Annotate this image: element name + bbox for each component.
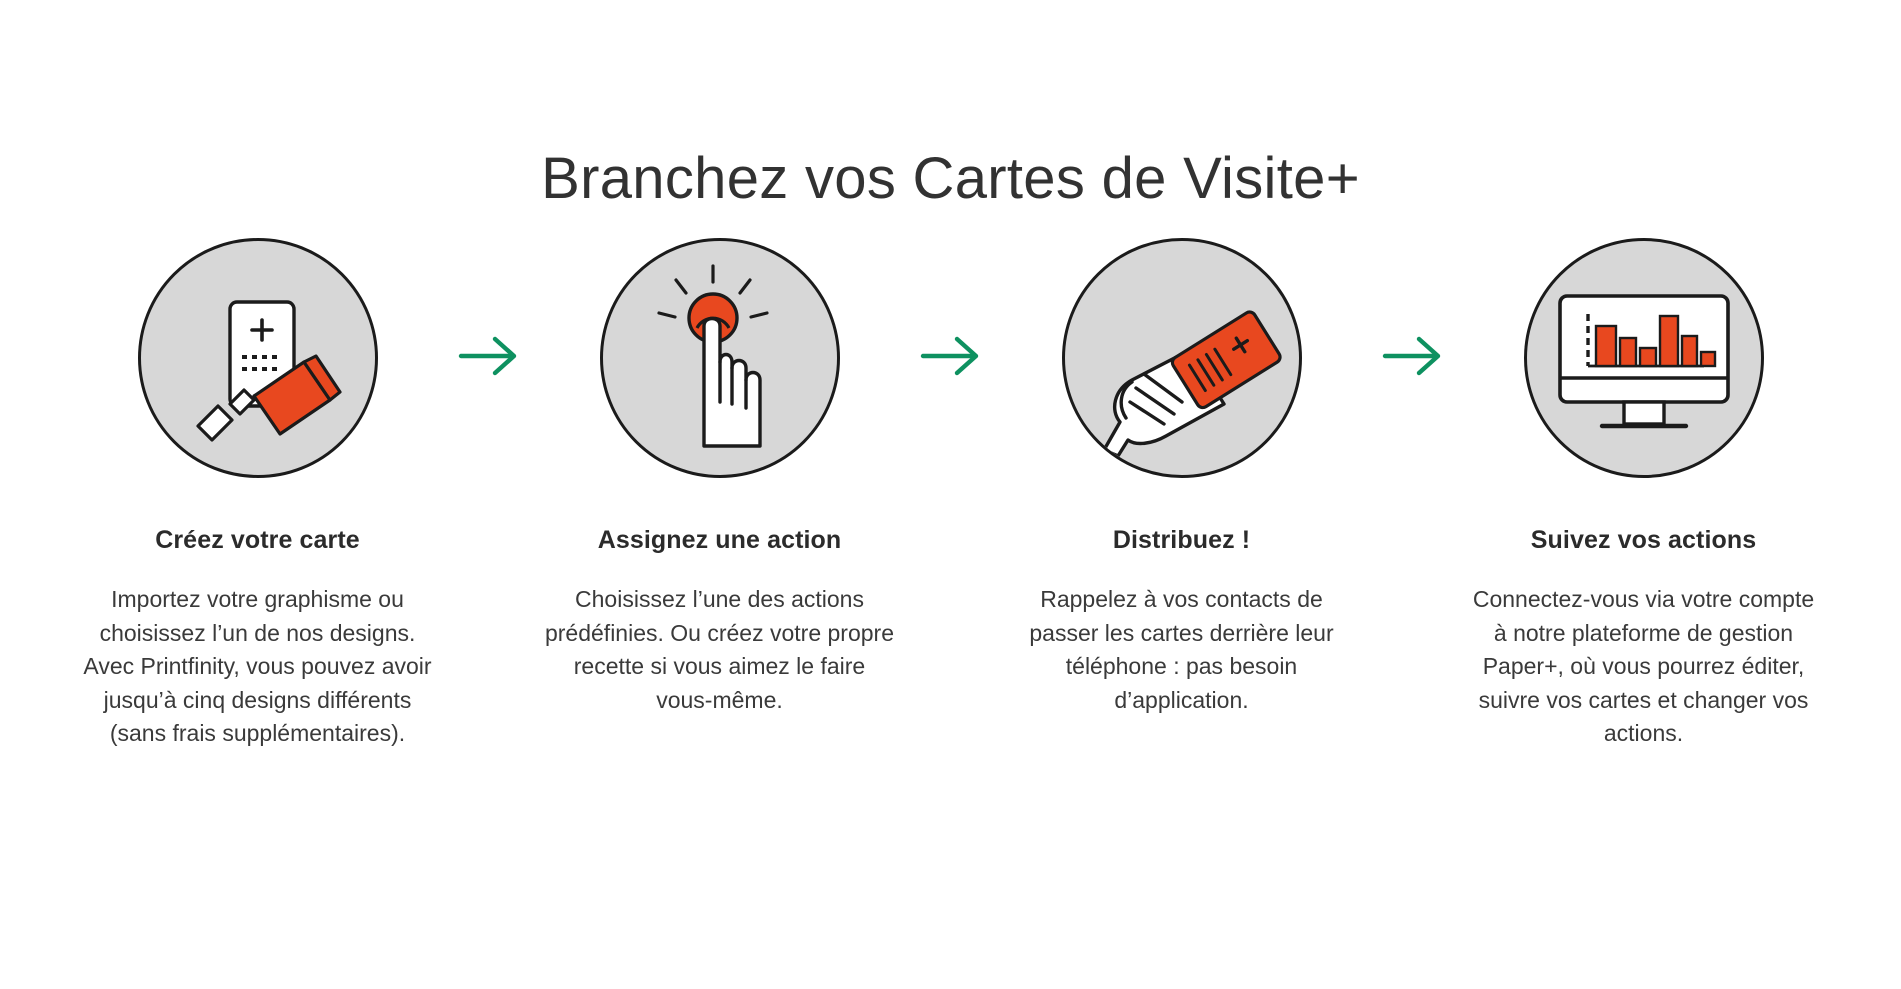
arrow-3-cell	[1372, 238, 1454, 478]
page-title: Branchez vos Cartes de Visite+	[0, 147, 1901, 211]
step-1-icon-circle	[138, 238, 378, 478]
step-4-body: Connectez-vous via votre compte à notre …	[1468, 583, 1820, 751]
infographic-page: Branchez vos Cartes de Visite+	[0, 0, 1901, 989]
step-track-actions: Suivez vos actions Connectez-vous via vo…	[1454, 238, 1834, 751]
arrow-2-cell	[910, 238, 992, 478]
steps-row: Créez votre carte Importez votre graphis…	[0, 238, 1901, 751]
right-arrow-icon	[457, 333, 521, 384]
hand-holding-card-icon	[1074, 250, 1290, 466]
step-3-heading: Distribuez !	[1113, 526, 1250, 555]
step-2-icon-circle	[600, 238, 840, 478]
step-assign-action: Assignez une action Choisissez l’une des…	[530, 238, 910, 717]
right-arrow-icon	[919, 333, 983, 384]
step-3-icon-circle	[1062, 238, 1302, 478]
step-create-card: Créez votre carte Importez votre graphis…	[68, 238, 448, 751]
arrow-1-cell	[448, 238, 530, 478]
step-4-heading: Suivez vos actions	[1531, 526, 1757, 555]
step-4-icon-circle	[1524, 238, 1764, 478]
step-2-heading: Assignez une action	[598, 526, 842, 555]
step-2-body: Choisissez l’une des actions prédéfinies…	[544, 583, 896, 717]
card-paint-roller-icon	[158, 258, 358, 458]
step-1-body: Importez votre graphisme ou choisissez l…	[82, 583, 434, 751]
right-arrow-icon	[1381, 333, 1445, 384]
finger-tap-button-icon	[612, 250, 828, 466]
monitor-bar-chart-icon	[1544, 258, 1744, 458]
step-1-heading: Créez votre carte	[155, 526, 360, 555]
step-distribute: Distribuez ! Rappelez à vos contacts de …	[992, 238, 1372, 717]
step-3-body: Rappelez à vos contacts de passer les ca…	[1006, 583, 1358, 717]
